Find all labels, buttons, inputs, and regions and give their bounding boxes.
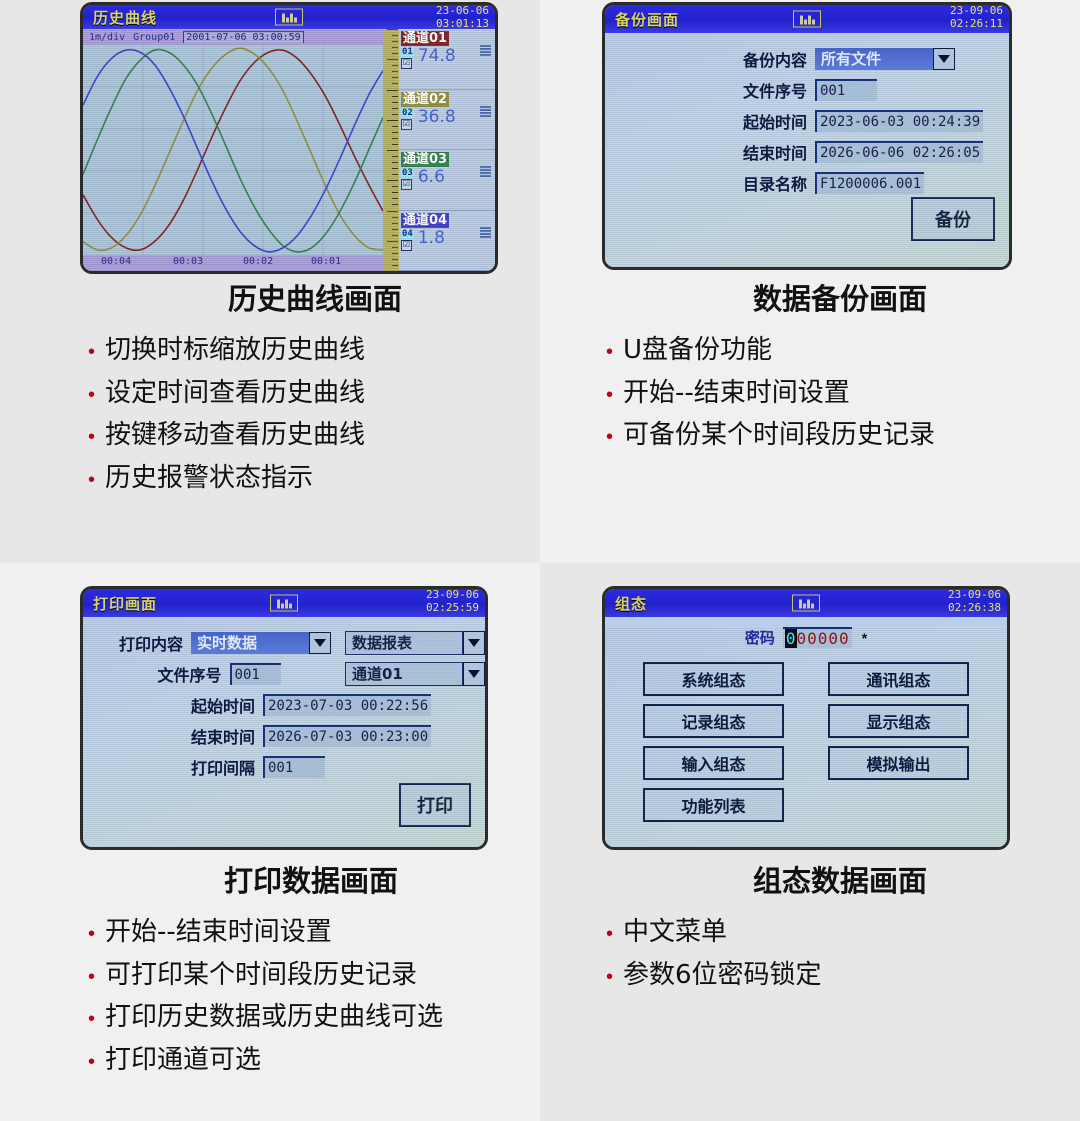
channel-alarm-bars-icon [480,166,491,177]
trend-plot-column: 1m/div Group01 2001-07-06 03:00:59 [83,29,383,271]
channel-legend-panel: 通道0101☑74.8通道0202☑36.8通道0303☑6.6通道0404☑1… [399,29,495,271]
channel-index-block: 03☑ [401,168,414,190]
poster-root: 历史曲线 23-06-06 03:01:13 1m/div Group01 20… [0,0,1080,1121]
list-item: •开始--结束时间设置 [88,918,540,947]
caption-title: 数据备份画面 [610,276,1070,318]
config-button-placeholder [828,788,969,818]
bullet-dot-icon: • [606,427,613,447]
bullet-dot-icon: • [88,1009,95,1029]
x-tick-1: 00:03 [173,256,203,267]
bullet-dot-icon: • [88,427,95,447]
chevron-down-icon[interactable] [309,632,331,654]
channel-index: 04 [401,229,414,239]
print-channel-select[interactable]: 通道01 [345,662,485,686]
history-trend-screen: 历史曲线 23-06-06 03:01:13 1m/div Group01 20… [80,2,498,274]
bullet-dot-icon: • [88,470,95,490]
print-clock: 23-09-06 02:25:59 [426,588,479,614]
caption-bullet-list: •开始--结束时间设置 •可打印某个时间段历史记录 •打印历史数据或历史曲线可选… [88,918,540,1074]
channel-index-block: 02☑ [401,108,414,130]
config-button-grid: 系统组态通讯组态记录组态显示组态输入组态模拟输出功能列表 [605,662,1007,822]
trend-curves [83,48,383,252]
list-item: •打印历史数据或历史曲线可选 [88,1003,540,1032]
backup-start-label: 起始时间 [605,109,815,133]
print-titlebar: 打印画面 23-09-06 02:25:59 [83,589,485,617]
backup-row-dir: 目录名称 F1200006.001 [605,171,1009,195]
caption-title: 打印数据画面 [82,858,540,900]
bullet-text: 设定时间查看历史曲线 [105,379,365,408]
list-item: •设定时间查看历史曲线 [88,379,540,408]
list-item: •可打印某个时间段历史记录 [88,961,540,990]
print-content-select[interactable]: 实时数据 [191,632,331,654]
channel-index-block: 04☑ [401,229,414,251]
backup-dir-label: 目录名称 [605,171,815,195]
backup-row-content: 备份内容 所有文件 [605,47,1009,71]
backup-start-input[interactable]: 2023-06-03 00:24:39 [815,110,983,132]
x-tick-2: 00:02 [243,256,273,267]
list-item: •打印通道可选 [88,1046,540,1075]
config-button-5[interactable]: 模拟输出 [828,746,969,780]
bullet-dot-icon: • [88,385,95,405]
timebase-label: 1m/div [89,32,125,43]
backup-end-input[interactable]: 2026-06-06 02:26:05 [815,141,983,163]
backup-action-button[interactable]: 备份 [911,197,995,241]
password-cursor-digit: 0 [785,629,797,648]
print-row-interval: 打印间隔 001 [83,755,485,779]
config-date: 23-09-06 [948,588,1001,601]
caption-history: 历史曲线画面 •切换时标缩放历史曲线 •设定时间查看历史曲线 •按键移动查看历史… [60,276,540,506]
print-start-input[interactable]: 2023-07-03 00:22:56 [263,694,431,716]
print-row-fileno: 文件序号 001 通道01 [83,662,485,686]
chevron-down-icon[interactable] [933,48,955,70]
print-start-label: 起始时间 [83,693,263,717]
group-label: Group01 [133,32,175,43]
chevron-down-icon[interactable] [463,631,485,655]
channel-checkbox[interactable]: ☑ [401,58,412,69]
channel-row-01[interactable]: 通道0101☑74.8 [399,29,495,90]
bullet-dot-icon: • [88,342,95,362]
history-date: 23-06-06 [436,4,489,17]
channel-row-03[interactable]: 通道0303☑6.6 [399,150,495,211]
list-item: •历史报警状态指示 [88,464,540,493]
backup-content-select[interactable]: 所有文件 [815,48,955,70]
list-item: •参数6位密码锁定 [606,961,1070,990]
bullet-dot-icon: • [606,342,613,362]
backup-date: 23-09-06 [950,4,1003,17]
channel-value: 36.8 [418,108,456,127]
trend-svg [83,45,383,255]
channel-name: 通道04 [401,213,449,228]
password-label: 密码 [745,627,775,648]
channel-row-04[interactable]: 通道0404☑1.8 [399,211,495,272]
config-clock: 23-09-06 02:26:38 [948,588,1001,614]
channel-alarm-bars-icon [480,45,491,56]
channel-index-block: 01☑ [401,47,414,69]
caption-title: 历史曲线画面 [90,276,540,318]
channel-alarm-bars-icon [480,227,491,238]
print-title: 打印画面 [93,593,157,614]
backup-title: 备份画面 [615,9,679,30]
list-item: •切换时标缩放历史曲线 [88,336,540,365]
password-input[interactable]: 0 00000 [783,627,852,648]
caption-bullet-list: •中文菜单 •参数6位密码锁定 [606,918,1070,989]
trend-timestamp: 2001-07-06 03:00:59 [183,31,303,43]
print-screen: 打印画面 23-09-06 02:25:59 打印内容 实时数据 数据报表 [80,586,488,850]
trend-header: 1m/div Group01 2001-07-06 03:00:59 [83,29,383,45]
trend-time-axis: 00:04 00:03 00:02 00:01 [83,255,383,271]
bullet-dot-icon: • [606,967,613,987]
print-content-label: 打印内容 [83,631,191,655]
print-body: 打印内容 实时数据 数据报表 文件序号 001 通道01 [83,617,485,847]
channel-checkbox[interactable]: ☑ [401,179,412,190]
channel-row-02[interactable]: 通道0202☑36.8 [399,90,495,151]
config-screen: 组态 23-09-06 02:26:38 密码 0 00000 * 系统组态通讯… [602,586,1010,850]
config-button-2[interactable]: 记录组态 [643,704,784,738]
print-interval-label: 打印间隔 [83,755,263,779]
list-item: •中文菜单 [606,918,1070,947]
history-body: 1m/div Group01 2001-07-06 03:00:59 [83,29,495,271]
print-row-start: 起始时间 2023-07-03 00:22:56 [83,693,485,717]
print-fileno-label: 文件序号 [83,662,230,686]
bullet-dot-icon: • [606,385,613,405]
print-end-label: 结束时间 [83,724,263,748]
backup-end-label: 结束时间 [605,140,815,164]
bullet-text: 打印历史数据或历史曲线可选 [105,1003,443,1032]
print-interval-input[interactable]: 001 [263,756,325,778]
backup-clock: 23-09-06 02:26:11 [950,4,1003,30]
config-titlebar: 组态 23-09-06 02:26:38 [605,589,1007,617]
backup-content-value: 所有文件 [815,48,933,70]
history-trend-area: 1m/div Group01 2001-07-06 03:00:59 [83,29,495,271]
bullet-text: 中文菜单 [623,918,727,947]
channel-name: 通道02 [401,92,449,107]
channel-index: 02 [401,108,414,118]
config-body: 密码 0 00000 * 系统组态通讯组态记录组态显示组态输入组态模拟输出功能列… [605,627,1007,850]
waveform-icon [793,11,821,28]
x-tick-0: 00:04 [101,256,131,267]
config-button-6[interactable]: 功能列表 [643,788,784,822]
backup-row-start: 起始时间 2023-06-03 00:24:39 [605,109,1009,133]
config-time: 02:26:38 [948,601,1001,614]
backup-fileno-label: 文件序号 [605,78,815,102]
config-title: 组态 [615,593,647,614]
backup-row-fileno: 文件序号 001 [605,78,1009,102]
caption-bullet-list: •U盘备份功能 •开始--结束时间设置 •可备份某个时间段历史记录 [606,336,1070,450]
chevron-down-icon[interactable] [463,662,485,686]
password-remaining-digits: 00000 [797,629,850,648]
channel-value: 6.6 [418,168,445,187]
print-row-content: 打印内容 实时数据 数据报表 [83,631,485,655]
list-item: •可备份某个时间段历史记录 [606,421,1070,450]
bullet-dot-icon: • [606,924,613,944]
caption-bullet-list: •切换时标缩放历史曲线 •设定时间查看历史曲线 •按键移动查看历史曲线 •历史报… [88,336,540,492]
bullet-text: 切换时标缩放历史曲线 [105,336,365,365]
caption-print: 打印数据画面 •开始--结束时间设置 •可打印某个时间段历史记录 •打印历史数据… [60,858,540,1088]
backup-body: 备份内容 所有文件 文件序号 001 起始时间 2023-06-03 00:24… [605,33,1009,267]
backup-time: 02:26:11 [950,17,1003,30]
config-button-1[interactable]: 通讯组态 [828,662,969,696]
channel-index: 01 [401,47,414,57]
backup-titlebar: 备份画面 23-09-06 02:26:11 [605,5,1009,33]
bullet-text: 历史报警状态指示 [105,464,313,493]
list-item: •开始--结束时间设置 [606,379,1070,408]
bullet-text: 可打印某个时间段历史记录 [105,961,417,990]
waveform-icon [792,595,820,612]
history-titlebar: 历史曲线 23-06-06 03:01:13 [83,5,495,29]
waveform-icon [270,595,298,612]
history-title: 历史曲线 [93,7,157,28]
bullet-dot-icon: • [88,967,95,987]
channel-value: 1.8 [418,229,445,248]
print-row-end: 结束时间 2026-07-03 00:23:00 [83,724,485,748]
channel-value: 74.8 [418,47,456,66]
print-channel-value: 通道01 [345,662,463,686]
bullet-dot-icon: • [88,924,95,944]
list-item: •U盘备份功能 [606,336,1070,365]
bullet-text: 打印通道可选 [105,1046,261,1075]
backup-form: 备份内容 所有文件 文件序号 001 起始时间 2023-06-03 00:24… [605,33,1009,195]
bullet-text: U盘备份功能 [623,336,772,365]
caption-config: 组态数据画面 •中文菜单 •参数6位密码锁定 [600,858,1070,1003]
trend-canvas[interactable] [83,45,383,255]
channel-checkbox[interactable]: ☑ [401,119,412,130]
channel-name: 通道01 [401,31,449,46]
channel-alarm-bars-icon [480,106,491,117]
bullet-text: 按键移动查看历史曲线 [105,421,365,450]
config-button-4[interactable]: 输入组态 [643,746,784,780]
print-fileno-input[interactable]: 001 [230,663,281,685]
backup-row-end: 结束时间 2026-06-06 02:26:05 [605,140,1009,164]
config-button-3[interactable]: 显示组态 [828,704,969,738]
history-clock: 23-06-06 03:01:13 [436,4,489,30]
print-report-select[interactable]: 数据报表 [345,631,485,655]
x-tick-3: 00:01 [311,256,341,267]
bullet-text: 开始--结束时间设置 [623,379,850,408]
waveform-icon [275,9,303,26]
print-report-value: 数据报表 [345,631,463,655]
channel-index: 03 [401,168,414,178]
bullet-dot-icon: • [88,1052,95,1072]
backup-dir-input[interactable]: F1200006.001 [815,172,924,194]
print-date: 23-09-06 [426,588,479,601]
list-item: •按键移动查看历史曲线 [88,421,540,450]
channel-checkbox[interactable]: ☑ [401,240,412,251]
caption-backup: 数据备份画面 •U盘备份功能 •开始--结束时间设置 •可备份某个时间段历史记录 [600,276,1070,464]
backup-content-label: 备份内容 [605,47,815,71]
password-asterisk: * [862,630,867,646]
print-time: 02:25:59 [426,601,479,614]
caption-title: 组态数据画面 [610,858,1070,900]
bullet-text: 可备份某个时间段历史记录 [623,421,935,450]
backup-fileno-input[interactable]: 001 [815,79,877,101]
channel-name: 通道03 [401,152,449,167]
bullet-text: 参数6位密码锁定 [623,961,822,990]
print-content-value: 实时数据 [191,632,309,654]
print-form: 打印内容 实时数据 数据报表 文件序号 001 通道01 [83,617,485,779]
print-end-input[interactable]: 2026-07-03 00:23:00 [263,725,431,747]
print-action-button[interactable]: 打印 [399,783,471,827]
trend-scale-ruler [383,29,399,271]
config-button-0[interactable]: 系统组态 [643,662,784,696]
trend-curve-通道04 [83,50,383,252]
bullet-text: 开始--结束时间设置 [105,918,332,947]
backup-screen: 备份画面 23-09-06 02:26:11 备份内容 所有文件 文件序号 00 [602,2,1012,270]
password-row: 密码 0 00000 * [605,627,1007,648]
